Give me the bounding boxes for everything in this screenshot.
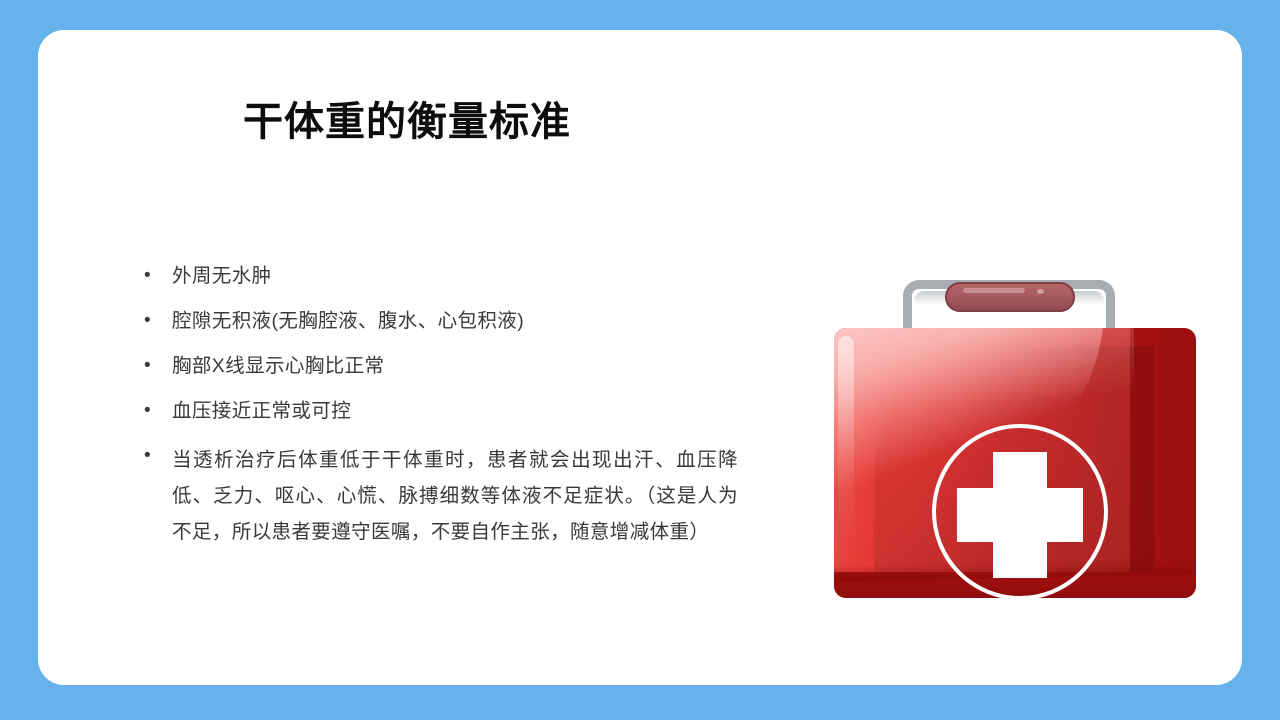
kit-gloss [834, 328, 1134, 448]
bullet-marker-icon: • [138, 262, 172, 290]
page-title: 干体重的衡量标准 [243, 100, 571, 144]
list-item: • 当透析治疗后体重低于干体重时，患者就会出现出汗、血压降低、乏力、呕心、心慌、… [138, 442, 738, 550]
list-item: • 胸部X线显示心胸比正常 [138, 352, 738, 380]
list-item-label: 当透析治疗后体重低于干体重时，患者就会出现出汗、血压降低、乏力、呕心、心慌、脉搏… [172, 442, 738, 550]
slide-card: 干体重的衡量标准 • 外周无水肿 • 腔隙无积液(无胸腔液、腹水、心包积液) •… [38, 30, 1242, 685]
grip-highlight [963, 288, 1025, 293]
medical-cross-icon [932, 424, 1108, 598]
grip-highlight-dot [1037, 289, 1044, 294]
bullet-marker-icon: • [138, 397, 172, 425]
bullet-marker-icon: • [138, 442, 172, 470]
bullet-marker-icon: • [138, 352, 172, 380]
list-item-label: 胸部X线显示心胸比正常 [172, 352, 738, 380]
list-item: • 腔隙无积液(无胸腔液、腹水、心包积液) [138, 307, 738, 335]
kit-body [834, 328, 1196, 598]
list-item: • 血压接近正常或可控 [138, 397, 738, 425]
list-item-label: 腔隙无积液(无胸腔液、腹水、心包积液) [172, 307, 738, 335]
bullet-list: • 外周无水肿 • 腔隙无积液(无胸腔液、腹水、心包积液) • 胸部X线显示心胸… [138, 262, 738, 567]
list-item-label: 血压接近正常或可控 [172, 397, 738, 425]
kit-edge-highlight [838, 336, 854, 536]
slide: 干体重的衡量标准 • 外周无水肿 • 腔隙无积液(无胸腔液、腹水、心包积液) •… [0, 0, 1280, 720]
list-item-label: 外周无水肿 [172, 262, 738, 290]
list-item: • 外周无水肿 [138, 262, 738, 290]
first-aid-kit-icon [828, 278, 1198, 603]
kit-handle-grip [945, 282, 1075, 312]
cross-horizontal-bar [957, 488, 1083, 542]
bullet-marker-icon: • [138, 307, 172, 335]
